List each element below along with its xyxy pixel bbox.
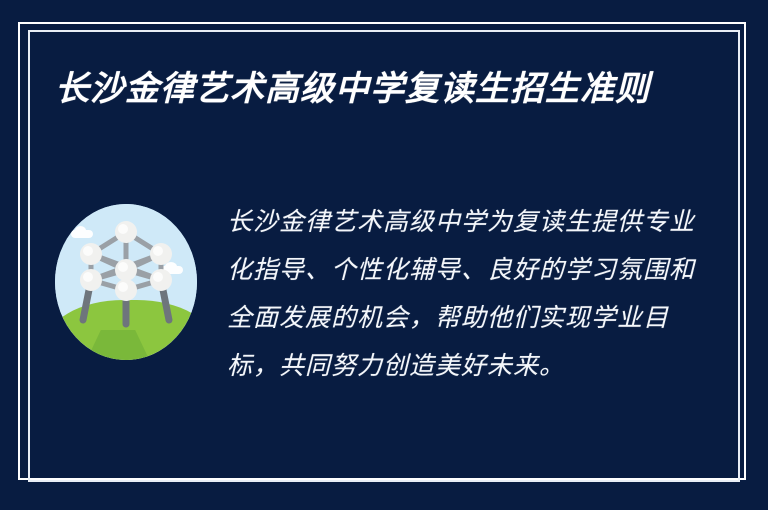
page-title: 长沙金律艺术高级中学复读生招生准则 <box>55 62 655 116</box>
content-row: 长沙金律艺术高级中学为复读生提供专业化指导、个性化辅导、良好的学习氛围和全面发展… <box>55 196 695 390</box>
illustration-wrap <box>55 196 205 360</box>
atomium-structure-icon <box>55 204 197 360</box>
atomium-monument-illustration <box>55 204 197 360</box>
body-paragraph: 长沙金律艺术高级中学为复读生提供专业化指导、个性化辅导、良好的学习氛围和全面发展… <box>227 198 695 390</box>
poster-root: 长沙金律艺术高级中学复读生招生准则 <box>0 0 768 510</box>
title-block: 长沙金律艺术高级中学复读生招生准则 <box>55 62 655 116</box>
body-wrap: 长沙金律艺术高级中学为复读生提供专业化指导、个性化辅导、良好的学习氛围和全面发展… <box>205 196 695 390</box>
